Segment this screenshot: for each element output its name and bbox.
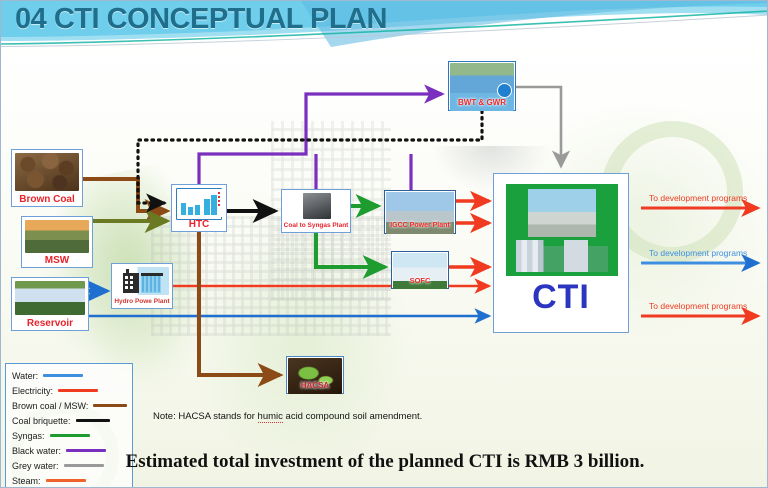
syngas-plant-image bbox=[303, 193, 331, 219]
legend-label: Syngas: bbox=[12, 431, 45, 441]
legend-item-syngas: Syngas: bbox=[12, 428, 132, 443]
legend-item-steam: Steam: bbox=[12, 473, 132, 488]
htc-chart-image bbox=[176, 188, 222, 220]
note-text: Note: HACSA stands for humic acid compou… bbox=[153, 411, 422, 422]
node-label: HACSA bbox=[287, 381, 343, 391]
cti-image bbox=[506, 184, 618, 276]
node-label: Reservoir bbox=[12, 319, 88, 329]
brown-coal-image bbox=[15, 153, 79, 191]
legend-swatch-electricity bbox=[58, 389, 98, 393]
legend-item-coal-briquette: Coal briquette: bbox=[12, 413, 132, 428]
node-igcc-power-plant[interactable]: IGCC Power Plant bbox=[384, 190, 456, 234]
legend-label: Steam: bbox=[12, 476, 41, 486]
node-htc[interactable]: HTC bbox=[171, 184, 227, 232]
note-underlined-word: humic bbox=[258, 411, 283, 423]
legend-swatch-briquette bbox=[76, 419, 110, 423]
node-coal-to-syngas-plant[interactable]: Coal to Syngas Plant bbox=[281, 189, 351, 233]
reservoir-image bbox=[15, 281, 85, 315]
note-suffix: acid compound soil amendment. bbox=[283, 411, 422, 422]
legend-swatch-syngas bbox=[50, 434, 90, 438]
node-label: Brown Coal bbox=[12, 195, 82, 205]
node-brown-coal[interactable]: Brown Coal bbox=[11, 149, 83, 207]
legend-item-water: Water: bbox=[12, 368, 132, 383]
wire-browncoal-to-htc bbox=[83, 179, 167, 211]
node-hydro-power-plant[interactable]: Hydro Powe Plant bbox=[111, 263, 173, 309]
legend-label: Coal briquette: bbox=[12, 416, 71, 426]
node-label: HTC bbox=[172, 220, 226, 230]
legend-label: Brown coal / MSW: bbox=[12, 401, 88, 411]
legend-label: Electricity: bbox=[12, 386, 53, 396]
node-hacsa[interactable]: HACSA bbox=[286, 356, 344, 394]
hydro-dam-icon bbox=[115, 267, 169, 295]
output-label-3: To development programs bbox=[649, 301, 747, 311]
slide-canvas: 04 CTI CONCEPTUAL PLAN bbox=[0, 0, 768, 488]
cti-photo bbox=[528, 189, 596, 237]
legend-swatch-steam bbox=[46, 479, 86, 483]
wire-htc-to-hacsa bbox=[199, 232, 280, 375]
node-label: SOFC bbox=[392, 276, 448, 286]
legend-swatch-browncoal bbox=[93, 404, 127, 408]
legend-label: Water: bbox=[12, 371, 38, 381]
output-label-2: To development programs bbox=[649, 248, 747, 258]
node-label: IGCC Power Plant bbox=[385, 221, 455, 231]
cti-title: CTI bbox=[494, 278, 628, 316]
node-label: MSW bbox=[22, 256, 92, 266]
note-prefix: Note: HACSA stands for bbox=[153, 411, 258, 422]
node-reservoir[interactable]: Reservoir bbox=[11, 277, 89, 331]
node-msw[interactable]: MSW bbox=[21, 216, 93, 268]
water-recycle-icon bbox=[497, 83, 512, 98]
legend-item-electricity: Electricity: bbox=[12, 383, 132, 398]
legend-item-browncoal-msw: Brown coal / MSW: bbox=[12, 398, 132, 413]
node-label: Coal to Syngas Plant bbox=[282, 221, 350, 231]
node-bwt-gwr[interactable]: BWT & GWR bbox=[448, 61, 516, 111]
output-label-1: To development programs bbox=[649, 193, 747, 203]
cti-plant-illustration bbox=[516, 240, 608, 272]
node-sofc[interactable]: SOFC bbox=[391, 251, 449, 289]
wire-syngas-to-sofc bbox=[316, 233, 385, 267]
footer-statement: Estimated total investment of the planne… bbox=[1, 451, 768, 473]
wire-bwt-to-cti-greywater bbox=[516, 87, 561, 166]
node-cti[interactable]: CTI bbox=[493, 173, 629, 333]
legend-swatch-water bbox=[43, 374, 83, 378]
node-label: BWT & GWR bbox=[449, 98, 515, 108]
node-label: Hydro Powe Plant bbox=[112, 297, 172, 307]
hydro-plant-icon bbox=[115, 267, 169, 295]
htc-plant-icon bbox=[177, 189, 223, 217]
msw-image bbox=[25, 220, 89, 253]
